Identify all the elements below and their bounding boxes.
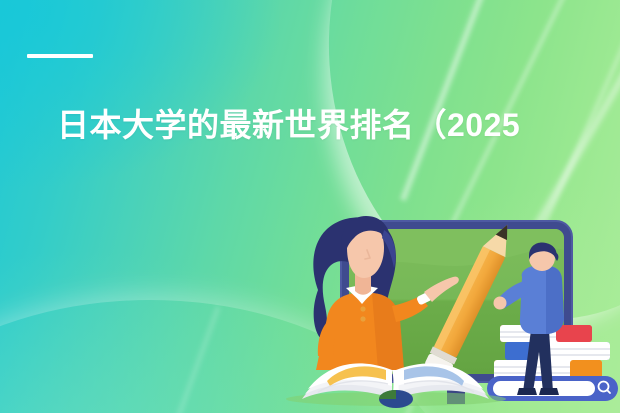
banner-root: 日本大学的最新世界排名（2025 [0, 0, 620, 413]
title-rule-decoration [27, 54, 93, 58]
light-swoosh-bottom-left [0, 300, 460, 413]
page-title: 日本大学的最新世界排名（2025 [57, 104, 620, 146]
background-light-streaks [0, 0, 620, 413]
